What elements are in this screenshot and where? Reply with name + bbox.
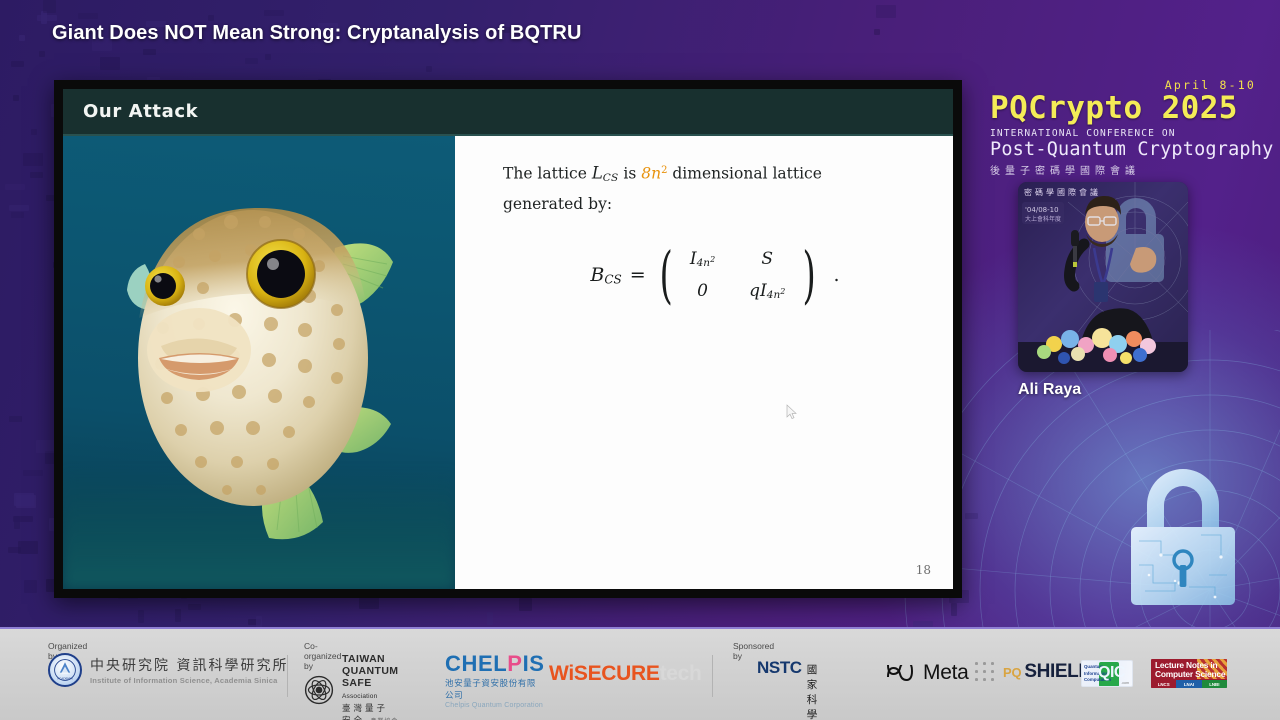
dimension-value: 8n bbox=[641, 165, 661, 183]
matrix-cell-10: 0 bbox=[697, 281, 708, 301]
pufferfish-image bbox=[63, 136, 455, 589]
equation-lhs: BCS bbox=[590, 264, 621, 286]
slide-page-number: 18 bbox=[916, 563, 931, 577]
logo-academia-sinica: ACADEMIA 中央研究院 資訊科學研究所 Institute of Info… bbox=[48, 653, 288, 687]
academia-sinica-name-en: Institute of Information Science, Academ… bbox=[90, 676, 288, 685]
matrix-cells: I4n2 S 0 qI4n2 bbox=[686, 249, 789, 302]
footer-divider-1 bbox=[287, 655, 288, 697]
tqs-line-1: TAIWAN bbox=[342, 653, 398, 665]
talk-title: Giant Does NOT Mean Strong: Cryptanalysi… bbox=[52, 22, 582, 45]
matrix-cell-01: S bbox=[761, 249, 773, 269]
logo-qic: Quantum Information Computation QIC .com bbox=[1081, 660, 1133, 687]
slide[interactable]: Our Attack bbox=[63, 89, 953, 589]
tqs-cjk-wrap: 臺灣量子安全 產業協會 bbox=[342, 702, 398, 720]
qic-letters: QIC bbox=[1098, 664, 1125, 682]
lncs-badge: Lecture Notes in Computer Science LNCS L… bbox=[1151, 659, 1227, 688]
wisecure-part-1: WiSECURE bbox=[549, 662, 660, 685]
chelpis-name-cjk: 池安量子資安股份有限公司 bbox=[445, 677, 545, 701]
conference-subtitle-small: INTERNATIONAL CONFERENCE ON bbox=[990, 128, 1260, 139]
lattice-description: The lattice LCS is 8n2 dimensional latti… bbox=[503, 158, 927, 217]
logo-taiwan-quantum-safe: TAIWAN QUANTUM SAFE Association 臺灣量子安全 產… bbox=[304, 653, 398, 720]
equals-sign: = bbox=[630, 264, 646, 286]
desc-part-2: is bbox=[618, 165, 641, 183]
padlock-icon bbox=[1105, 455, 1260, 615]
desc-part-3: dimensional lattice bbox=[667, 165, 821, 183]
logo-meta: Meta bbox=[885, 661, 969, 685]
equation-period: . bbox=[834, 264, 840, 286]
matrix-cell-00: I4n2 bbox=[690, 249, 715, 269]
tqs-line-2-wrap: QUANTUM SAFE Association bbox=[342, 665, 398, 701]
matrix-cell-11-symbol: qI bbox=[749, 281, 767, 301]
conference-subtitle-large: Post-Quantum Cryptography bbox=[990, 140, 1260, 160]
chelpis-part-a: CHEL bbox=[445, 651, 507, 676]
tqs-cjk: 臺灣量子安全 bbox=[342, 703, 388, 720]
pufferfish-illustration bbox=[103, 178, 423, 578]
conference-name: PQCrypto 2025 bbox=[990, 93, 1260, 124]
matrix-cell-00-symbol: I bbox=[690, 249, 697, 269]
tqs-association: Association bbox=[342, 693, 377, 700]
pqshield-pq: PQ bbox=[1003, 665, 1021, 680]
matrix-cell-11: qI4n2 bbox=[749, 281, 785, 301]
slide-math-content: The lattice LCS is 8n2 dimensional latti… bbox=[455, 136, 953, 589]
tqs-atom-icon bbox=[304, 675, 334, 705]
matrix-cell-00-sub-exp: 2 bbox=[710, 255, 715, 264]
svg-text:密碼學國際會議: 密碼學國際會議 bbox=[1024, 187, 1101, 197]
lattice-symbol: L bbox=[592, 164, 603, 183]
equation-lhs-subscript: CS bbox=[604, 272, 621, 286]
chelpis-part-pink: P bbox=[507, 651, 522, 676]
sponsor-footer: Organized by ACADEMIA 中央研究院 資訊科學研究所 Inst… bbox=[0, 627, 1280, 720]
matrix-cell-11-sub-exp: 2 bbox=[780, 287, 785, 296]
svg-text:ACADEMIA: ACADEMIA bbox=[57, 677, 73, 681]
meta-infinity-icon bbox=[885, 665, 915, 681]
chelpis-name-en: Chelpis Quantum Corporation bbox=[445, 702, 545, 709]
screen-root: Giant Does NOT Mean Strong: Cryptanalysi… bbox=[0, 0, 1280, 720]
logo-pqshield: PQ SHIELD bbox=[975, 661, 1092, 683]
mouse-cursor bbox=[786, 404, 798, 420]
matrix-cell-11-sub: 4n2 bbox=[767, 289, 786, 301]
logo-nstc: NSTC 國家科學及技術委員會 National Science and Tec… bbox=[727, 659, 818, 720]
lattice-symbol-subscript: CS bbox=[603, 172, 619, 184]
logo-wisecure: WiSECUREtech bbox=[549, 663, 702, 684]
wisecure-wordmark: WiSECUREtech bbox=[549, 663, 702, 684]
conference-branding: April 8-10 PQCrypto 2025 INTERNATIONAL C… bbox=[990, 78, 1260, 177]
lncs-series-bar: LNCS LNAI LNBI bbox=[1151, 680, 1227, 688]
conference-subtitle-cjk: 後量子密碼學國際會議 bbox=[990, 162, 1260, 177]
desc-line-2: generated by: bbox=[503, 191, 927, 217]
lncs-tag-1: LNCS bbox=[1151, 680, 1176, 688]
lncs-title: Lecture Notes in Computer Science bbox=[1155, 661, 1225, 680]
pqshield-dots-icon bbox=[975, 662, 995, 682]
qic-dotcom: .com bbox=[1121, 681, 1129, 685]
wisecure-part-2: tech bbox=[660, 662, 702, 685]
footer-divider-2 bbox=[712, 655, 713, 697]
matrix-cell-11-sub-base: 4n bbox=[767, 289, 780, 301]
equation-lhs-symbol: B bbox=[590, 264, 604, 286]
academia-sinica-name-cjk: 中央研究院 資訊科學研究所 bbox=[90, 655, 288, 675]
svg-text:'04/08-10: '04/08-10 bbox=[1025, 206, 1059, 214]
slide-body: The lattice LCS is 8n2 dimensional latti… bbox=[63, 136, 953, 589]
lncs-tag-3: LNBI bbox=[1202, 680, 1227, 688]
logo-chelpis: CHELPIS 池安量子資安股份有限公司 Chelpis Quantum Cor… bbox=[445, 653, 545, 709]
nstc-name-cjk: 國家科學及技術委員會 bbox=[807, 662, 818, 720]
matrix-cell-00-sub-base: 4n bbox=[697, 257, 710, 269]
svg-text:大上會科年度: 大上會科年度 bbox=[1025, 215, 1061, 223]
academia-sinica-seal-icon: ACADEMIA bbox=[48, 653, 82, 687]
lncs-title-line-2: Computer Science bbox=[1155, 670, 1225, 679]
desc-part-1: The lattice bbox=[503, 165, 592, 183]
basis-matrix-equation: BCS = ( I4n2 S 0 qI4n2 ) . bbox=[503, 249, 927, 302]
slide-header: Our Attack bbox=[63, 89, 953, 136]
chelpis-wordmark: CHELPIS bbox=[445, 653, 545, 675]
slide-header-title: Our Attack bbox=[83, 101, 198, 122]
logo-lncs: Lecture Notes in Computer Science LNCS L… bbox=[1151, 659, 1227, 688]
speaker-name: Ali Raya bbox=[1018, 381, 1081, 399]
slide-frame[interactable]: Our Attack bbox=[54, 80, 962, 598]
lncs-tag-2: LNAI bbox=[1176, 680, 1201, 688]
chelpis-part-b: IS bbox=[523, 651, 545, 676]
meta-wordmark: Meta bbox=[923, 661, 969, 685]
speaker-video-thumbnail[interactable]: 密碼學國際會議 '04/08-10 大上會科年度 bbox=[1018, 182, 1188, 372]
matrix-cell-00-sub: 4n2 bbox=[697, 257, 716, 269]
nstc-wordmark: NSTC bbox=[757, 659, 802, 676]
qic-badge: Quantum Information Computation QIC .com bbox=[1081, 660, 1133, 687]
tqs-line-2: QUANTUM SAFE bbox=[342, 665, 398, 689]
